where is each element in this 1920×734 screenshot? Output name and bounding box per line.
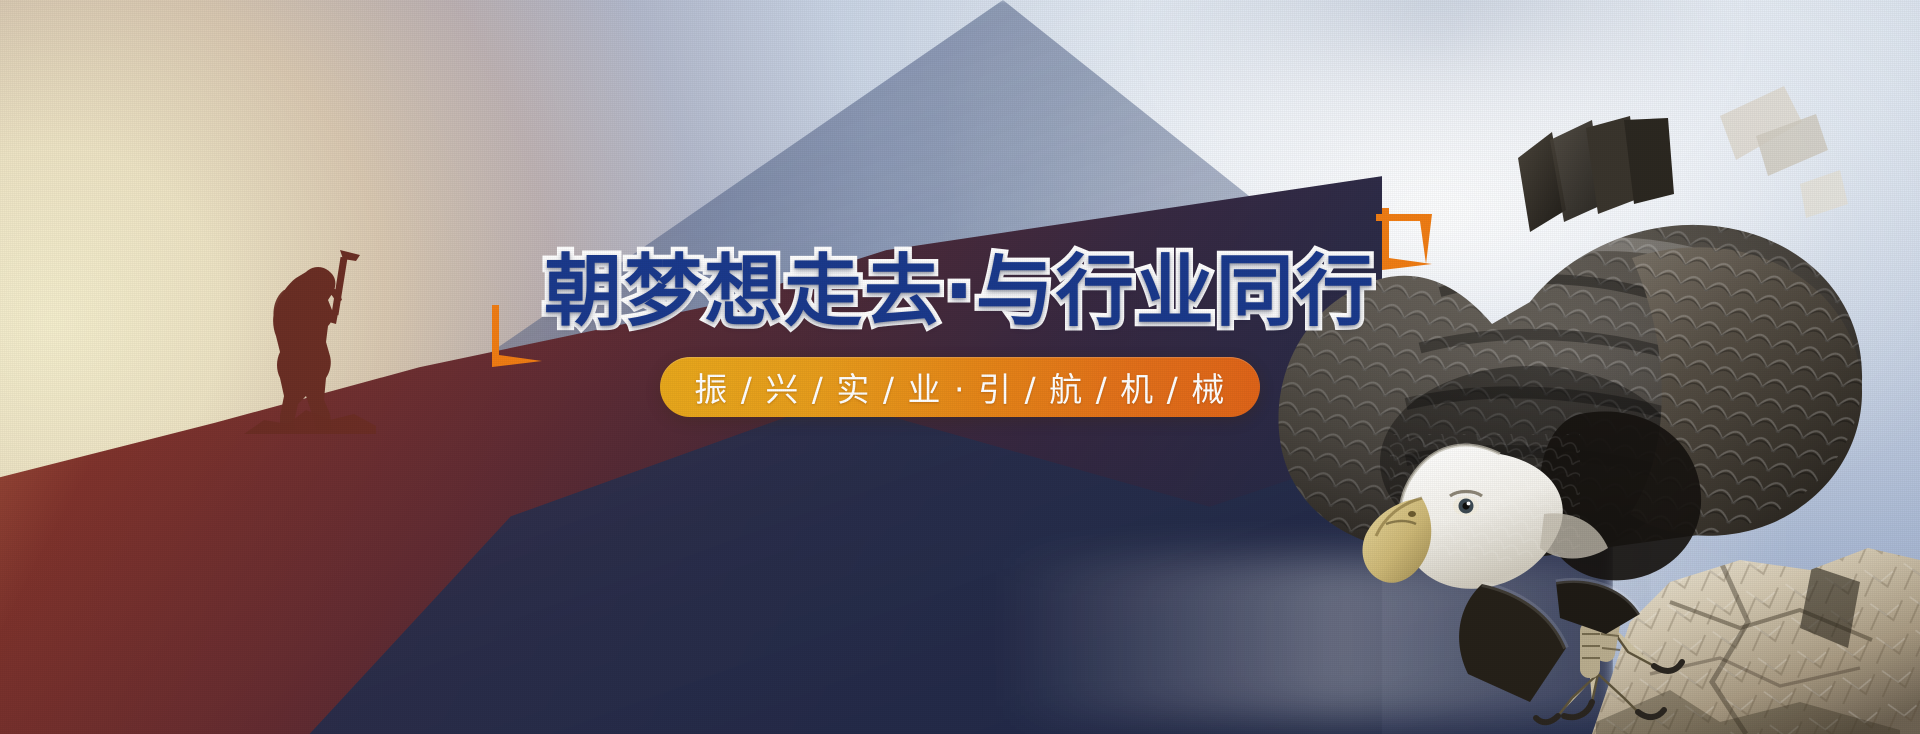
mist-band-lower [998, 558, 1766, 719]
page-title: 朝梦想走去·与行业同行 [518, 248, 1402, 341]
hero-banner: 朝梦想走去·与行业同行 振 / 兴 / 实 / 业 · 引 / 航 / 机 / … [0, 0, 1920, 734]
corner-bracket-right-icon [1376, 208, 1432, 270]
headline-wrapper: 朝梦想走去·与行业同行 [518, 248, 1402, 341]
corner-bracket-left-icon [486, 305, 542, 367]
subtitle-text: 振 / 兴 / 实 / 业 · 引 / 航 / 机 / 械 [694, 363, 1226, 411]
banner-copy: 朝梦想走去·与行业同行 振 / 兴 / 实 / 业 · 引 / 航 / 机 / … [0, 248, 1920, 417]
subtitle-pill: 振 / 兴 / 实 / 业 · 引 / 航 / 机 / 械 [660, 357, 1260, 417]
